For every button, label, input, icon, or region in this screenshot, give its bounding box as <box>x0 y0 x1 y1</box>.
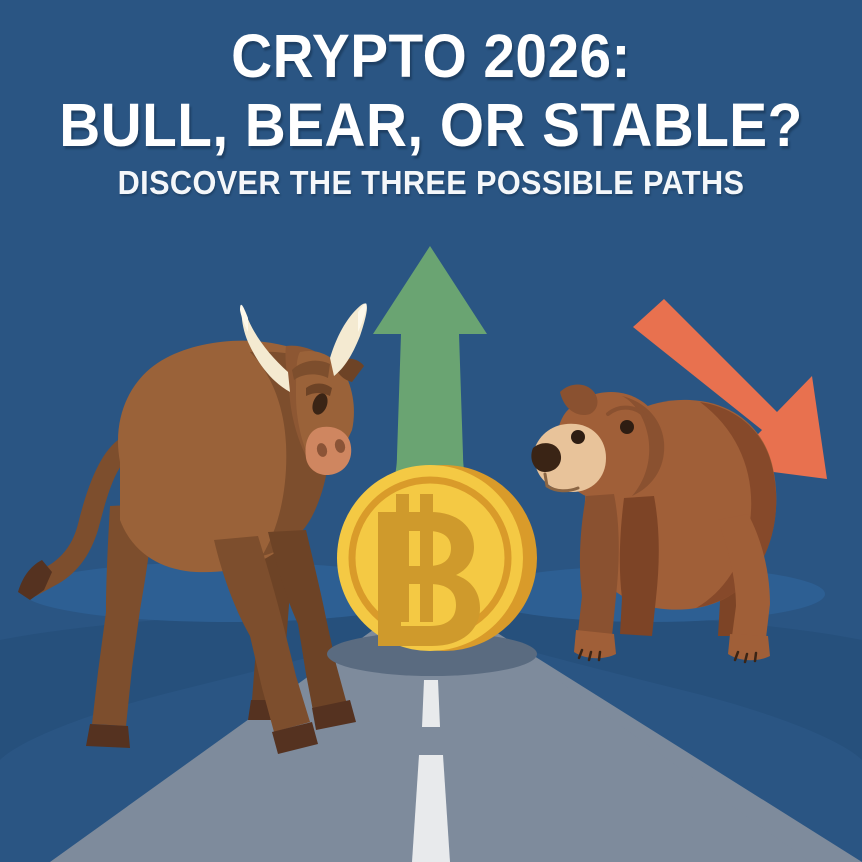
bear-eye-far <box>620 420 634 434</box>
bear-rear-paw-near <box>728 634 770 660</box>
road-dash-far <box>422 680 440 727</box>
bull-muzzle <box>306 427 352 475</box>
bull-rear-hoof-near <box>86 724 130 748</box>
bear-front-leg-near <box>578 494 619 636</box>
bear-eye-near <box>571 430 585 444</box>
bear-nose <box>531 443 561 472</box>
crypto-2026-poster: CRYPTO 2026: BULL, BEAR, OR STABLE? DISC… <box>0 0 862 862</box>
scene-illustration <box>0 0 862 862</box>
bear-front-leg-far <box>620 496 659 636</box>
